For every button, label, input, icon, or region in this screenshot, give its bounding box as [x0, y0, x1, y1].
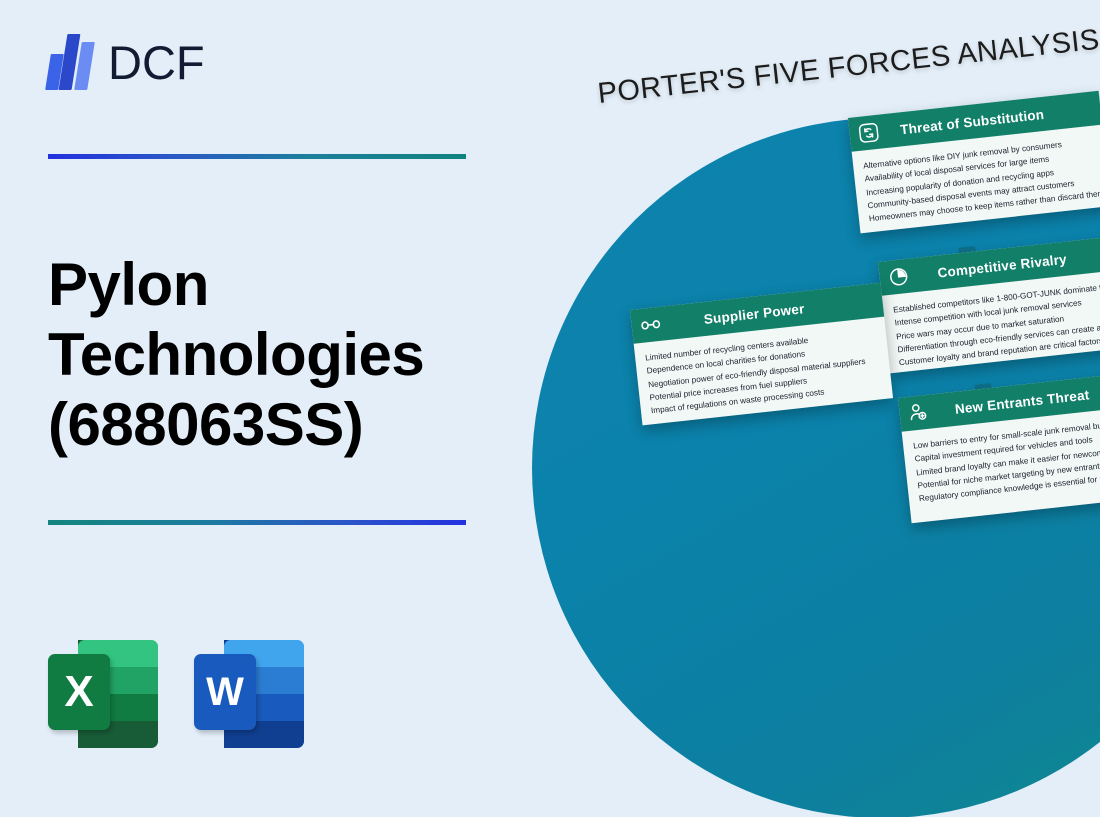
- page-title-line: (688063SS): [48, 390, 478, 460]
- excel-icon-letter: X: [64, 670, 93, 714]
- page-title-line: Pylon: [48, 250, 478, 320]
- link-chain-icon: [639, 313, 663, 337]
- dcf-bars-logo-icon: [48, 34, 94, 90]
- dcf-logo[interactable]: DCF: [48, 34, 205, 90]
- left-info-panel: DCF Pylon Technologies (688063SS) X W: [0, 0, 520, 817]
- page-title-line: Technologies: [48, 320, 478, 390]
- user-add-icon: [907, 401, 931, 425]
- divider-bottom: [48, 520, 466, 525]
- page-title: Pylon Technologies (688063SS): [48, 250, 478, 461]
- excel-icon-badge: X: [48, 654, 110, 730]
- brand-name: DCF: [108, 39, 205, 86]
- force-card-new-entrants-threat[interactable]: New Entrants Threat Low barriers to entr…: [898, 371, 1100, 523]
- word-icon-badge: W: [194, 654, 256, 730]
- excel-file-icon[interactable]: X: [48, 632, 158, 748]
- word-file-icon[interactable]: W: [194, 632, 304, 748]
- pie-chart-icon: [887, 265, 911, 289]
- recycle-sync-icon: [857, 121, 881, 145]
- word-icon-letter: W: [206, 672, 244, 712]
- download-format-icons: X W: [48, 632, 304, 748]
- divider-top: [48, 154, 466, 159]
